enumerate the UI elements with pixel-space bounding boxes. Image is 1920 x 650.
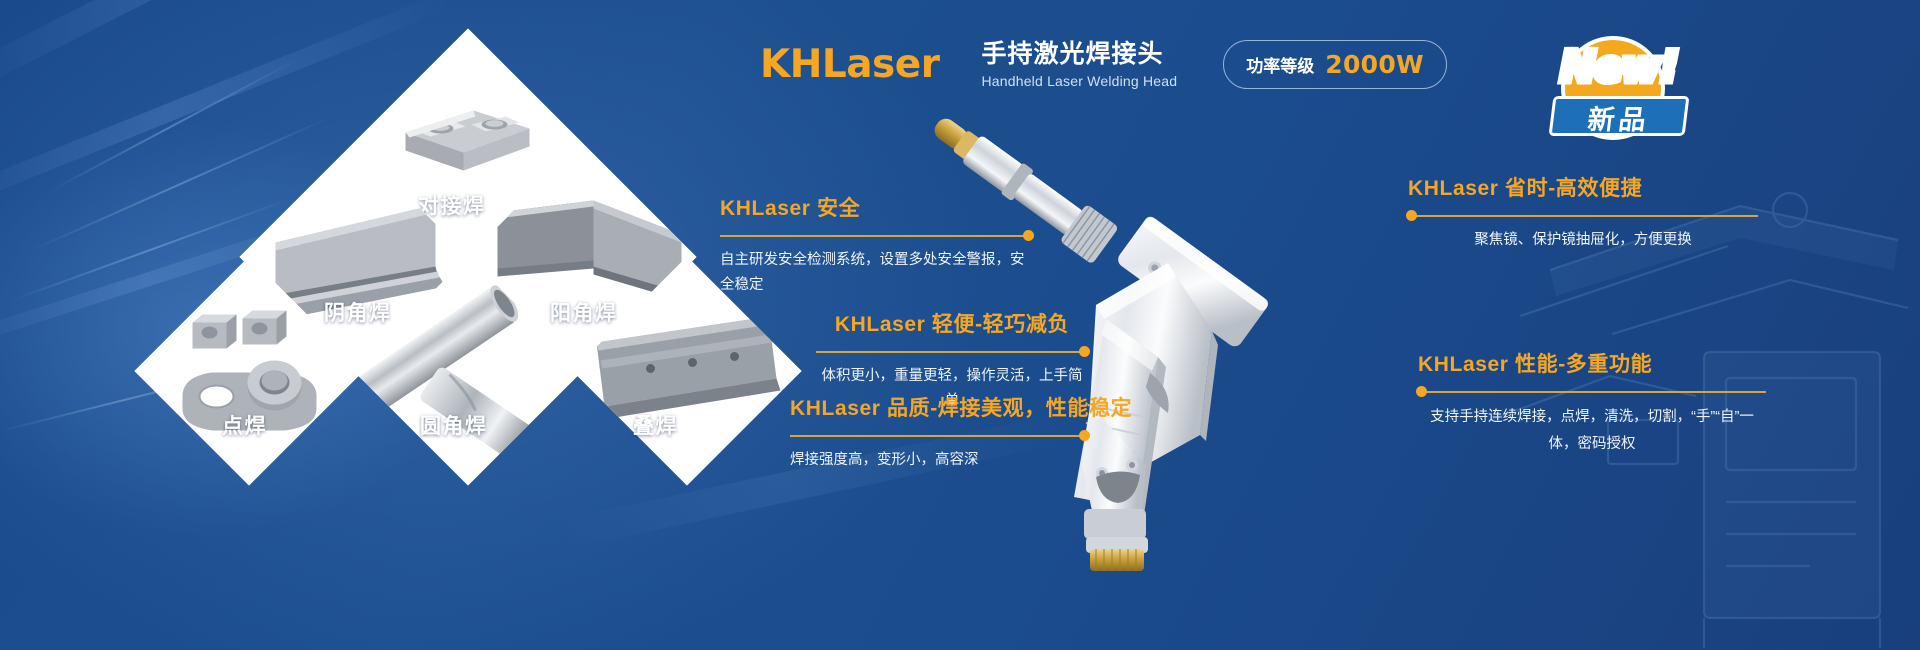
divider-dot xyxy=(1023,230,1034,241)
brand-logo: KHLaser xyxy=(760,45,939,84)
feature-body-quality: 焊接强度高，变形小，高容深 xyxy=(790,448,1088,473)
new-badge-text-cn: 新品 xyxy=(1543,98,1696,137)
feature-time-saving: KHLaser 省时-高效便捷 聚焦镜、保护镜抽屉化，方便更换 xyxy=(1408,172,1758,253)
divider-dot xyxy=(1416,386,1427,397)
feature-body-time-saving: 聚焦镜、保护镜抽屉化，方便更换 xyxy=(1408,228,1758,253)
feature-title-performance: KHLaser 性能-多重功能 xyxy=(1418,348,1766,378)
weld-sample-label-outside-corner-weld: 阳角焊 xyxy=(550,297,618,327)
feature-safety: KHLaser 安全 自主研发安全检测系统，设置多处安全警报，安全稳定 xyxy=(720,192,1032,299)
power-rating-value: 2000W xyxy=(1325,50,1424,79)
divider-dot xyxy=(1406,210,1417,221)
weld-sample-label-fillet-weld: 圆角焊 xyxy=(420,410,488,440)
feature-performance: KHLaser 性能-多重功能 支持手持连续焊接，点焊，清洗，切割，“手”“自”… xyxy=(1418,348,1766,458)
divider-dot xyxy=(1079,346,1090,357)
divider-line xyxy=(1408,215,1758,217)
weld-sample-grid: 对接焊 阴角焊 xyxy=(168,40,768,610)
product-name-cn: 手持激光焊接头 xyxy=(981,40,1177,69)
divider-line xyxy=(720,235,1032,237)
divider-line xyxy=(1418,391,1766,393)
new-badge-text-fill: New! xyxy=(1545,42,1693,91)
product-name-block: 手持激光焊接头 Handheld Laser Welding Head xyxy=(981,40,1177,89)
power-rating-label: 功率等级 xyxy=(1246,52,1314,77)
weld-sample-label-inside-corner-weld: 阴角焊 xyxy=(324,297,392,327)
banner-header: KHLaser 手持激光焊接头 Handheld Laser Welding H… xyxy=(760,40,1447,89)
feature-title-safety: KHLaser 安全 xyxy=(720,192,1032,222)
feature-title-lightweight: KHLaser 轻便-轻巧减负 xyxy=(816,308,1088,338)
feature-divider-lightweight xyxy=(816,345,1088,359)
feature-divider-performance xyxy=(1418,385,1766,399)
new-product-badge: New! New! New! 新品 xyxy=(1545,28,1693,140)
promo-banner: 对接焊 阴角焊 xyxy=(0,0,1920,650)
weld-sample-label-spot-weld: 点焊 xyxy=(222,410,267,440)
feature-title-quality: KHLaser 品质-焊接美观，性能稳定 xyxy=(790,392,1088,422)
feature-divider-quality xyxy=(790,429,1088,443)
divider-line xyxy=(816,351,1088,353)
weld-sample-label-butt-weld: 对接焊 xyxy=(418,190,486,220)
power-rating-badge: 功率等级 2000W xyxy=(1223,40,1447,89)
feature-body-safety: 自主研发安全检测系统，设置多处安全警报，安全稳定 xyxy=(720,248,1032,299)
weld-sample-label-lap-weld: 叠焊 xyxy=(633,410,678,440)
feature-title-time-saving: KHLaser 省时-高效便捷 xyxy=(1408,172,1758,202)
feature-quality: KHLaser 品质-焊接美观，性能稳定 焊接强度高，变形小，高容深 xyxy=(790,392,1088,473)
feature-divider-safety xyxy=(720,229,1032,243)
product-name-en: Handheld Laser Welding Head xyxy=(981,73,1177,89)
divider-line xyxy=(790,435,1088,437)
feature-divider-time-saving xyxy=(1408,209,1758,223)
divider-dot xyxy=(1079,430,1090,441)
feature-body-performance: 支持手持连续焊接，点焊，清洗，切割，“手”“自”一体，密码授权 xyxy=(1418,404,1766,458)
